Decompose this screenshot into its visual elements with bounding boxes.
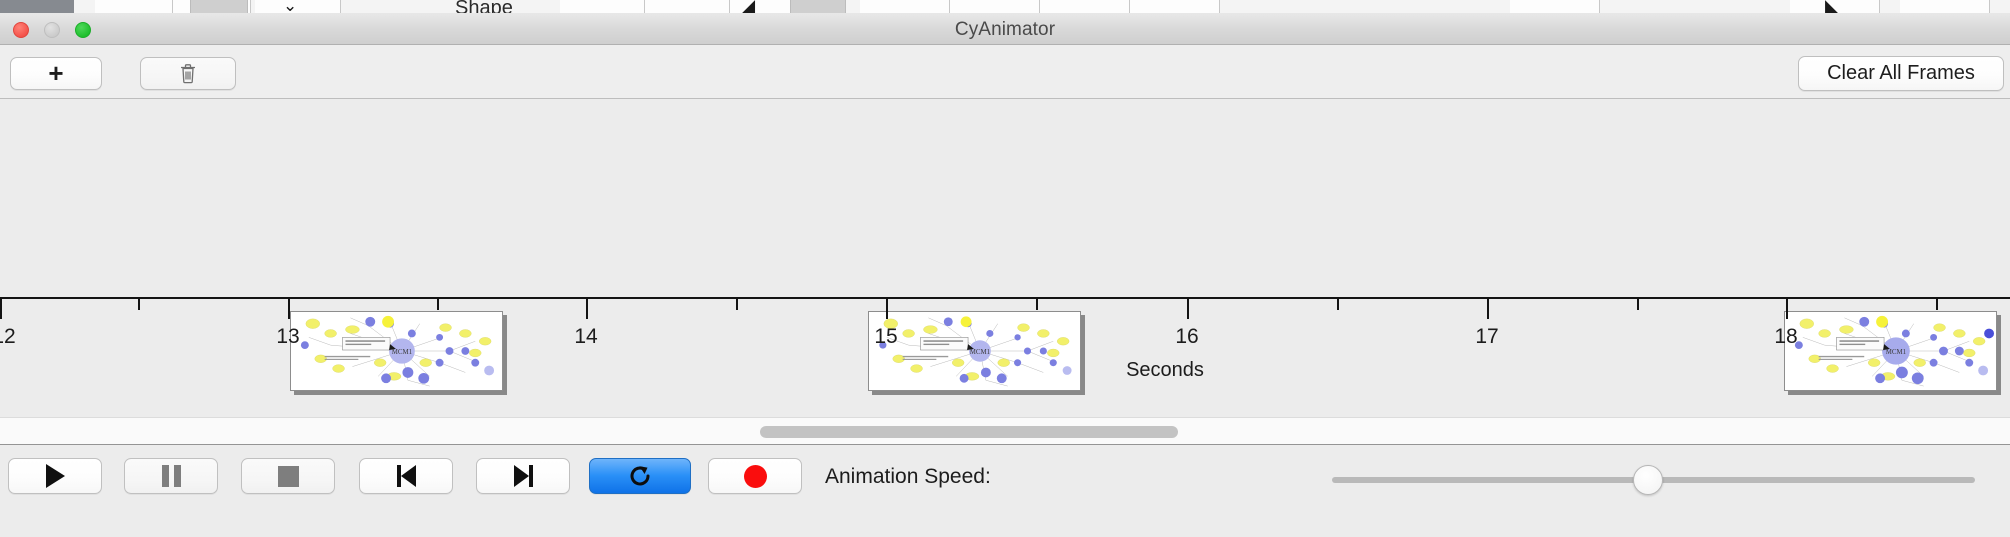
axis-tick-major xyxy=(886,299,888,319)
background-dark-tab xyxy=(0,0,74,14)
window-title: CyAnimator xyxy=(0,19,2010,41)
pause-icon xyxy=(162,465,181,487)
axis-tick-label: 12 xyxy=(0,325,16,349)
axis-tick-label: 15 xyxy=(874,325,897,349)
axis-tick-label: 13 xyxy=(276,325,299,349)
axis-tick-major xyxy=(586,299,588,319)
plus-icon: + xyxy=(48,60,63,86)
axis-tick-major xyxy=(0,299,2,319)
stop-icon xyxy=(278,466,299,487)
axis-tick-label: 17 xyxy=(1475,325,1498,349)
axis-title: Seconds xyxy=(1126,359,1204,382)
background-glyph: ◢ xyxy=(742,0,755,14)
axis-tick-label: 14 xyxy=(574,325,597,349)
play-icon xyxy=(46,464,65,488)
frame-toolbar: + Clear All Frames xyxy=(0,45,2010,99)
trash-icon xyxy=(179,63,197,84)
axis-tick-minor xyxy=(1637,299,1639,310)
clear-all-frames-button[interactable]: Clear All Frames xyxy=(1798,56,2004,91)
background-cell xyxy=(1510,0,1600,14)
background-grey-box xyxy=(190,0,248,14)
loop-toggle-button[interactable] xyxy=(589,458,691,494)
background-cell xyxy=(560,0,645,14)
pause-button[interactable] xyxy=(124,458,218,494)
background-glyph: ◣ xyxy=(1825,0,1838,14)
background-grey-box xyxy=(790,0,846,14)
axis-tick-minor xyxy=(736,299,738,310)
background-cell xyxy=(255,0,341,14)
playback-toolbar: Animation Speed: xyxy=(0,445,2010,537)
animation-speed-label: Animation Speed: xyxy=(825,465,991,489)
stop-button[interactable] xyxy=(241,458,335,494)
background-glyph: ⌄ xyxy=(283,0,297,14)
background-shape-label: Shape xyxy=(455,0,513,14)
scrollbar-thumb[interactable] xyxy=(760,426,1178,438)
timeline-axis[interactable]: 12 13 14 15 16 17 18 Seconds xyxy=(0,297,2010,417)
skip-to-start-icon xyxy=(397,465,416,487)
axis-baseline xyxy=(0,297,2010,299)
axis-tick-major xyxy=(1487,299,1489,319)
skip-to-end-button[interactable] xyxy=(476,458,570,494)
skip-to-end-icon xyxy=(514,465,533,487)
axis-tick-minor xyxy=(1936,299,1938,310)
axis-tick-label: 16 xyxy=(1175,325,1198,349)
timeline-panel[interactable]: MCM1 xyxy=(0,99,2010,417)
slider-thumb[interactable] xyxy=(1633,465,1663,495)
axis-tick-minor xyxy=(1036,299,1038,310)
loop-icon xyxy=(627,463,653,489)
axis-tick-minor xyxy=(1337,299,1339,310)
add-frame-button[interactable]: + xyxy=(10,57,102,90)
axis-tick-minor xyxy=(138,299,140,310)
background-cell xyxy=(1130,0,1220,14)
skip-to-start-button[interactable] xyxy=(359,458,453,494)
window-titlebar: CyAnimator xyxy=(0,13,2010,45)
background-cell xyxy=(645,0,730,14)
axis-tick-minor xyxy=(437,299,439,310)
clear-all-frames-label: Clear All Frames xyxy=(1827,62,1975,85)
background-cell xyxy=(1040,0,1130,14)
record-button[interactable] xyxy=(708,458,802,494)
background-cell xyxy=(95,0,173,14)
axis-tick-label: 18 xyxy=(1774,325,1797,349)
animation-speed-slider[interactable] xyxy=(1332,465,1975,495)
background-cell xyxy=(1900,0,1990,14)
cyanimator-window: CyAnimator + Clear All Frames xyxy=(0,13,2010,510)
record-icon xyxy=(744,465,767,488)
background-cell xyxy=(950,0,1040,14)
delete-frame-button[interactable] xyxy=(140,57,236,90)
timeline-horizontal-scrollbar[interactable] xyxy=(0,417,2010,445)
background-cell xyxy=(860,0,950,14)
play-button[interactable] xyxy=(8,458,102,494)
background-app-strip: ⌄ Shape ◢ ◣ xyxy=(0,0,2010,14)
axis-tick-major xyxy=(1187,299,1189,319)
axis-tick-major xyxy=(288,299,290,319)
axis-tick-major xyxy=(1786,299,1788,319)
